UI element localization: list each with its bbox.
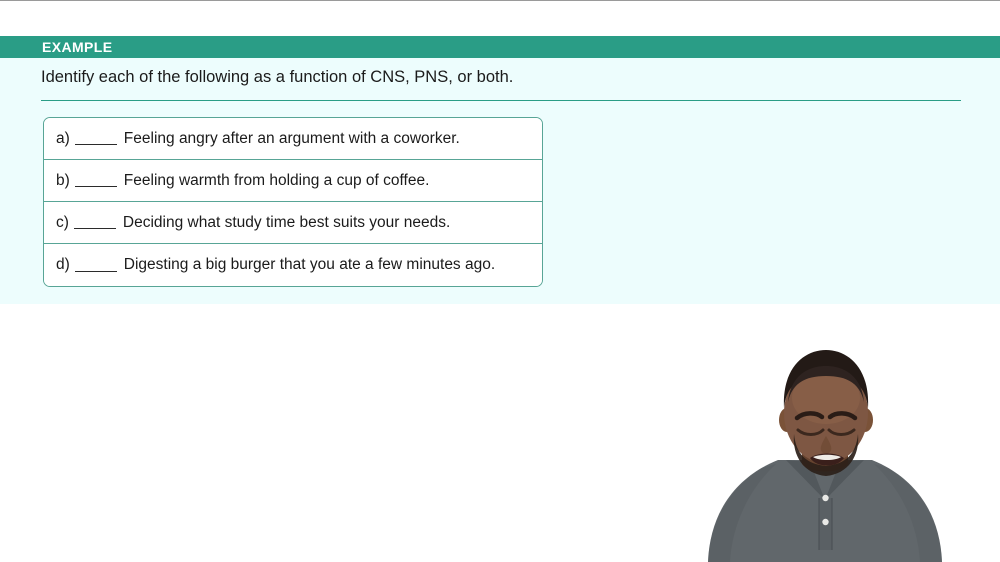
answer-list: a) Feeling angry after an argument with … (43, 117, 543, 287)
list-item[interactable]: c) Deciding what study time best suits y… (44, 202, 542, 244)
item-marker: b) (56, 172, 70, 190)
list-item[interactable]: a) Feeling angry after an argument with … (44, 118, 542, 160)
item-marker: c) (56, 214, 69, 232)
example-panel: EXAMPLE Identify each of the following a… (0, 36, 1000, 304)
item-marker: a) (56, 130, 70, 148)
example-banner-label: EXAMPLE (42, 38, 112, 56)
example-banner: EXAMPLE (0, 36, 1000, 58)
prompt-divider (41, 100, 961, 101)
top-hairline (0, 0, 1000, 1)
answer-blank[interactable] (75, 259, 117, 272)
list-item[interactable]: b) Feeling warmth from holding a cup of … (44, 160, 542, 202)
item-marker: d) (56, 256, 70, 274)
prompt-text: Identify each of the following as a func… (41, 66, 513, 88)
item-text: Feeling angry after an argument with a c… (124, 130, 460, 148)
item-text: Digesting a big burger that you ate a fe… (124, 256, 495, 274)
answer-blank[interactable] (74, 216, 116, 229)
list-item[interactable]: d) Digesting a big burger that you ate a… (44, 244, 542, 286)
presenter-video-overlay (690, 350, 960, 562)
answer-blank[interactable] (75, 174, 117, 187)
item-text: Feeling warmth from holding a cup of cof… (124, 172, 430, 190)
presenter-figure (690, 350, 960, 562)
item-text: Deciding what study time best suits your… (123, 214, 450, 232)
answer-blank[interactable] (75, 132, 117, 145)
